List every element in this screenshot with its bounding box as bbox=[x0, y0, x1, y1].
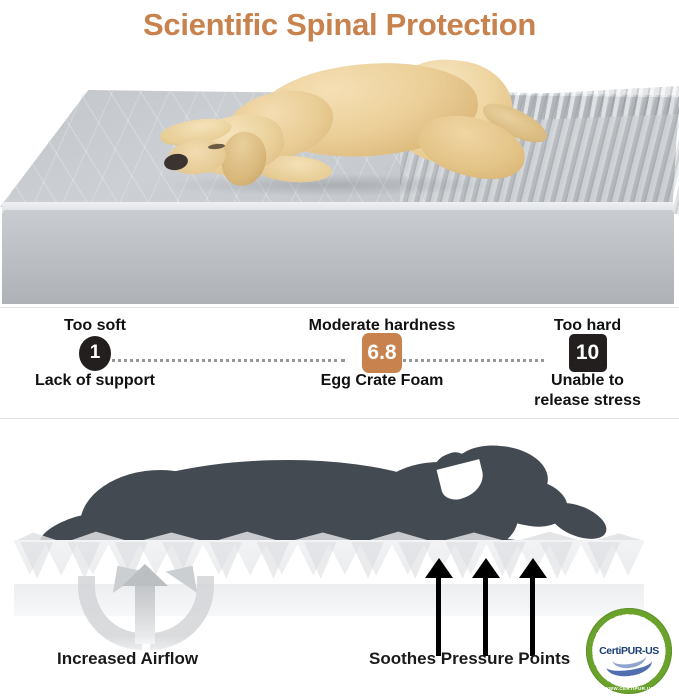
airflow-arrow-center-shaft bbox=[135, 576, 155, 644]
page-title: Scientific Spinal Protection bbox=[143, 7, 536, 43]
scale-stop-bottom-label-line2: release stress bbox=[505, 391, 670, 411]
scale-stop-top-label: Too hard bbox=[505, 316, 670, 335]
scale-marker-row: 6.8 bbox=[292, 335, 472, 371]
hero-product-photo bbox=[0, 52, 679, 304]
scale-stop-too-soft: Too soft 1 Lack of support bbox=[20, 316, 170, 390]
certipur-url-text: WWW.CERTIPUR.US bbox=[586, 686, 672, 691]
hardness-scale: Too soft 1 Lack of support Moderate hard… bbox=[0, 312, 679, 416]
pressure-arrow-3-shaft bbox=[530, 572, 535, 656]
divider-bottom bbox=[0, 418, 679, 419]
scale-stop-too-hard: Too hard 10 Unable to release stress bbox=[505, 316, 670, 411]
pressure-arrow-2-head bbox=[472, 558, 500, 578]
pressure-arrow-2-shaft bbox=[483, 572, 488, 656]
scale-stop-bottom-label: Egg Crate Foam bbox=[292, 371, 472, 390]
scale-stop-bottom-label: Lack of support bbox=[20, 371, 170, 390]
dog-shadow bbox=[170, 174, 490, 196]
airflow-arrow-center-head bbox=[122, 564, 168, 586]
caption-soothes-pressure-points: Soothes Pressure Points bbox=[369, 649, 570, 669]
scale-marker-row: 10 bbox=[505, 335, 670, 371]
certipur-us-badge: CONTAINS CERTIFIED FLEXIBLE POLYURETHANE… bbox=[586, 608, 672, 694]
scale-marker-row: 1 bbox=[20, 335, 170, 371]
pressure-arrow-1-head bbox=[425, 558, 453, 578]
scale-marker-1: 1 bbox=[79, 336, 111, 371]
scale-marker-10: 10 bbox=[569, 334, 607, 372]
scale-stop-top-label: Too soft bbox=[20, 316, 170, 335]
foam-cross-section-diagram: Increased Airflow Soothes Pressure Point… bbox=[0, 424, 679, 696]
pressure-arrow-3-head bbox=[519, 558, 547, 578]
dog-photo bbox=[150, 58, 550, 228]
scale-marker-68: 6.8 bbox=[362, 333, 402, 373]
scale-stop-moderate-hardness: Moderate hardness 6.8 Egg Crate Foam bbox=[292, 316, 472, 390]
divider-top bbox=[0, 307, 679, 308]
title-bar: Scientific Spinal Protection bbox=[0, 0, 679, 50]
caption-increased-airflow: Increased Airflow bbox=[57, 649, 198, 669]
pressure-arrow-1-shaft bbox=[436, 572, 441, 656]
scale-stop-bottom-label-line1: Unable to bbox=[505, 371, 670, 391]
